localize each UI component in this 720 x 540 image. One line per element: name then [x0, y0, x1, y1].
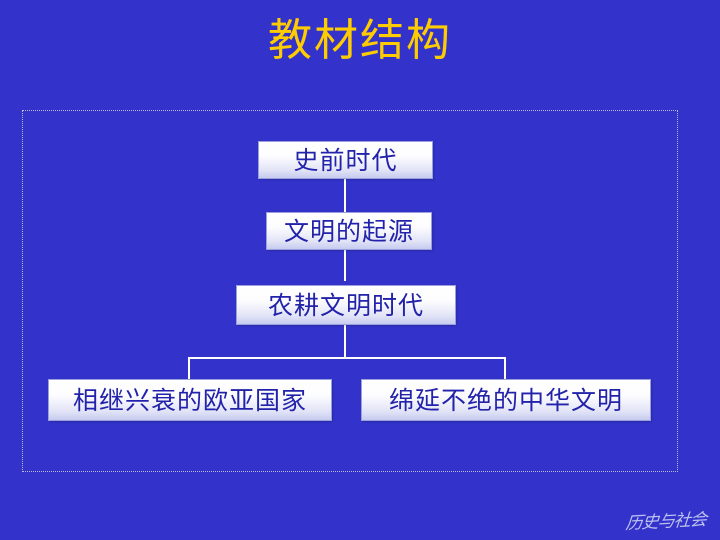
- diagram-node-eurasian-states[interactable]: 相继兴衰的欧亚国家: [48, 379, 332, 421]
- connector-line-drop-right: [504, 357, 506, 381]
- watermark-logo: 历史与社会: [625, 505, 708, 534]
- connector-line-drop-left: [188, 357, 190, 381]
- diagram-node-agricultural-civilization-era[interactable]: 农耕文明时代: [236, 285, 456, 325]
- diagram-node-prehistoric-era[interactable]: 史前时代: [258, 141, 433, 179]
- page-title: 教材结构: [0, 14, 720, 68]
- diagram-node-origin-of-civilization[interactable]: 文明的起源: [266, 212, 432, 250]
- connector-line-vertical-lower: [344, 325, 346, 359]
- connector-line-horizontal-branch: [188, 357, 506, 359]
- diagram-node-chinese-civilization[interactable]: 绵延不绝的中华文明: [361, 379, 651, 421]
- slide-canvas: 教材结构 史前时代 文明的起源 农耕文明时代 相继兴衰的欧亚国家 绵延不绝的中华…: [0, 0, 720, 540]
